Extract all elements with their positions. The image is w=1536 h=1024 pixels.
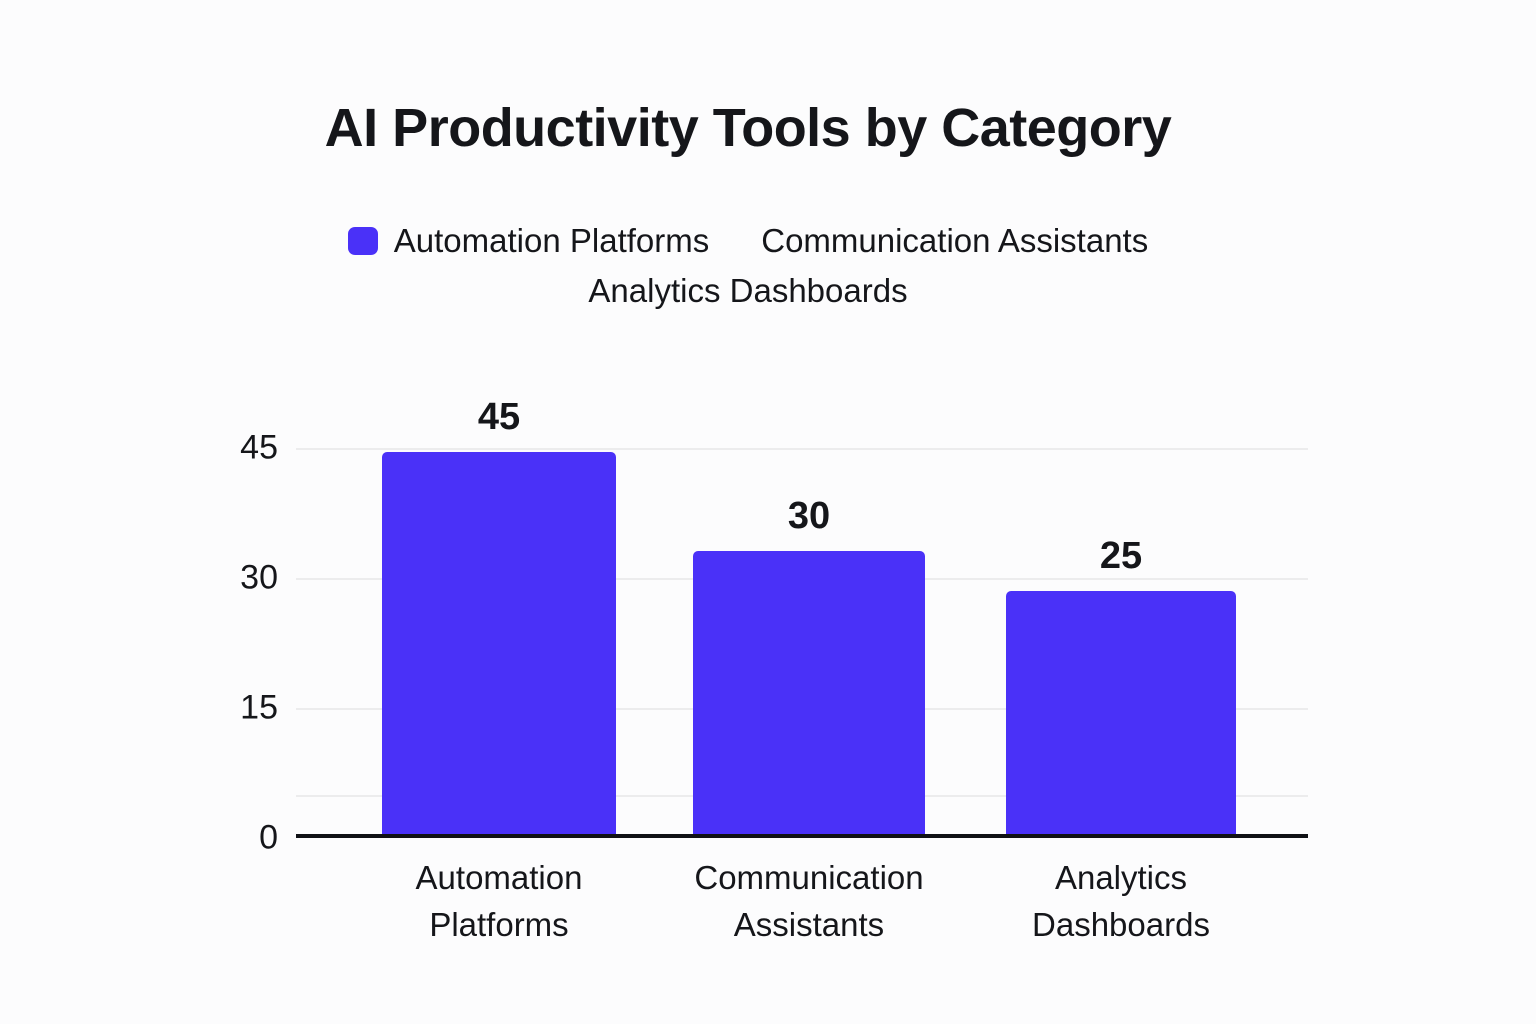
bar[interactable] — [693, 551, 925, 836]
bar-value-label: 45 — [382, 396, 616, 439]
chart-card: AI Productivity Tools by Category Automa… — [0, 0, 1536, 1024]
legend-row-1: Automation Platforms Communication Assis… — [0, 216, 1496, 266]
legend-swatch-icon — [348, 227, 378, 255]
x-axis-category-label: CommunicationAssistants — [653, 854, 965, 948]
bar[interactable] — [1006, 591, 1236, 836]
bar-value-label: 30 — [693, 495, 925, 538]
chart-title: AI Productivity Tools by Category — [0, 97, 1496, 159]
legend-entry-communication-assistants[interactable]: Communication Assistants — [761, 222, 1148, 260]
x-axis-label-line: Automation — [342, 854, 656, 901]
y-axis-tick-label: 30 — [158, 558, 278, 597]
chart-legend: Automation Platforms Communication Assis… — [0, 216, 1496, 316]
legend-entry-analytics-dashboards[interactable]: Analytics Dashboards — [588, 272, 907, 310]
x-axis-label-line: Platforms — [342, 901, 656, 948]
y-axis-tick-label: 15 — [158, 688, 278, 727]
x-axis-category-label: AnalyticsDashboards — [966, 854, 1276, 948]
bar[interactable] — [382, 452, 616, 836]
x-axis-label-line: Assistants — [653, 901, 965, 948]
y-axis-tick-label: 45 — [158, 428, 278, 467]
legend-row-2: Analytics Dashboards — [0, 266, 1496, 316]
gridline — [296, 448, 1308, 450]
x-axis-label-line: Analytics — [966, 854, 1276, 901]
x-axis-category-label: AutomationPlatforms — [342, 854, 656, 948]
x-axis-line — [296, 834, 1308, 838]
x-axis-label-line: Dashboards — [966, 901, 1276, 948]
bar-value-label: 25 — [1006, 535, 1236, 578]
plot-area: 0153045 453025 — [296, 380, 1308, 838]
legend-label: Analytics Dashboards — [588, 272, 907, 310]
y-axis-tick-label: 0 — [158, 819, 278, 858]
legend-label: Automation Platforms — [394, 222, 709, 260]
x-axis-label-line: Communication — [653, 854, 965, 901]
legend-entry-automation-platforms[interactable]: Automation Platforms — [348, 222, 709, 260]
legend-label: Communication Assistants — [761, 222, 1148, 260]
